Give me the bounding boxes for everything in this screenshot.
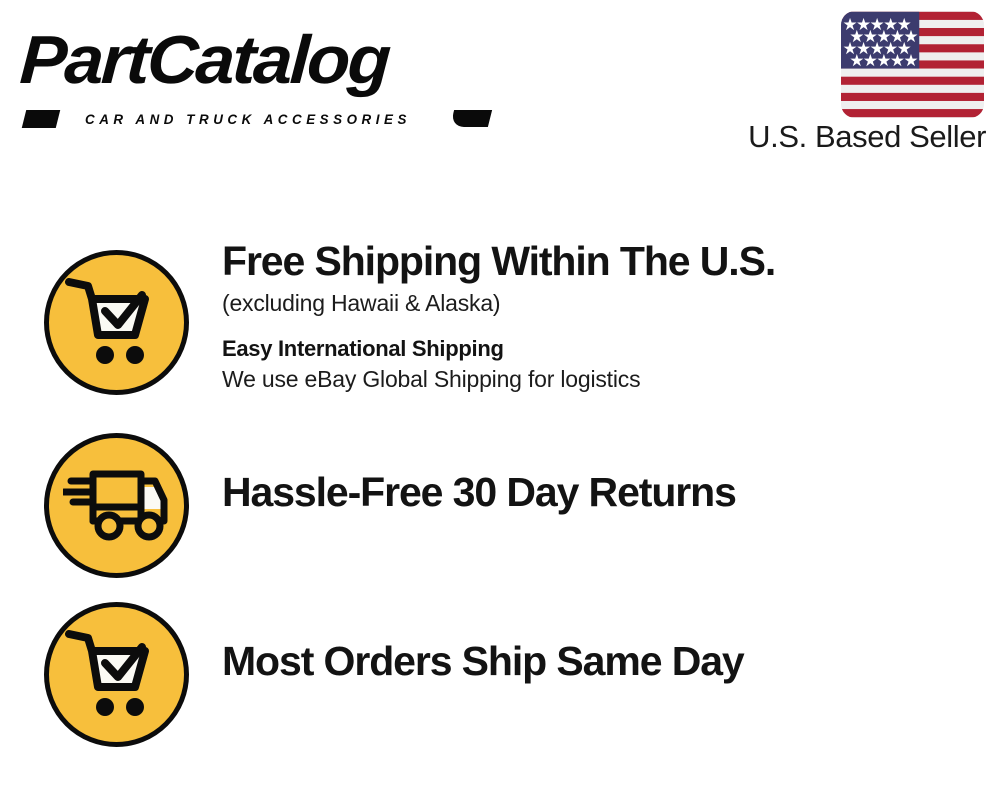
feature-sub-detail: We use eBay Global Shipping for logistic… [222,366,962,392]
feature-text-block: Hassle-Free 30 Day Returns [222,471,962,514]
feature-subtitle: (excluding Hawaii & Alaska) [222,290,962,316]
feature-text-block: Most Orders Ship Same Day [222,640,962,683]
feature-sub-heading: Easy International Shipping [222,336,962,361]
feature-row: Free Shipping Within The U.S. (excluding… [0,240,1000,405]
brand-logo[interactable]: PartCatalog CAR AND TRUCK ACCESSORIES [22,26,492,118]
feature-text-block: Free Shipping Within The U.S. (excluding… [222,240,962,392]
delivery-truck-icon [44,433,189,578]
feature-title: Most Orders Ship Same Day [222,640,962,683]
shopping-cart-check-icon [44,602,189,747]
logo-descender-left-decoration [22,110,60,128]
shopping-cart-check-icon [44,250,189,395]
brand-tagline: CAR AND TRUCK ACCESSORIES [85,112,411,127]
feature-row: Most Orders Ship Same Day [0,592,1000,742]
brand-wordmark: PartCatalog [18,26,390,94]
us-flag-icon [841,11,984,118]
logo-descender-right-decoration [450,110,492,127]
feature-title: Free Shipping Within The U.S. [222,240,962,283]
feature-title: Hassle-Free 30 Day Returns [222,471,962,514]
us-based-seller-label: U.S. Based Seller [726,119,986,155]
feature-row: Hassle-Free 30 Day Returns [0,423,1000,573]
page-header: PartCatalog CAR AND TRUCK ACCESSORIES [0,0,1000,175]
